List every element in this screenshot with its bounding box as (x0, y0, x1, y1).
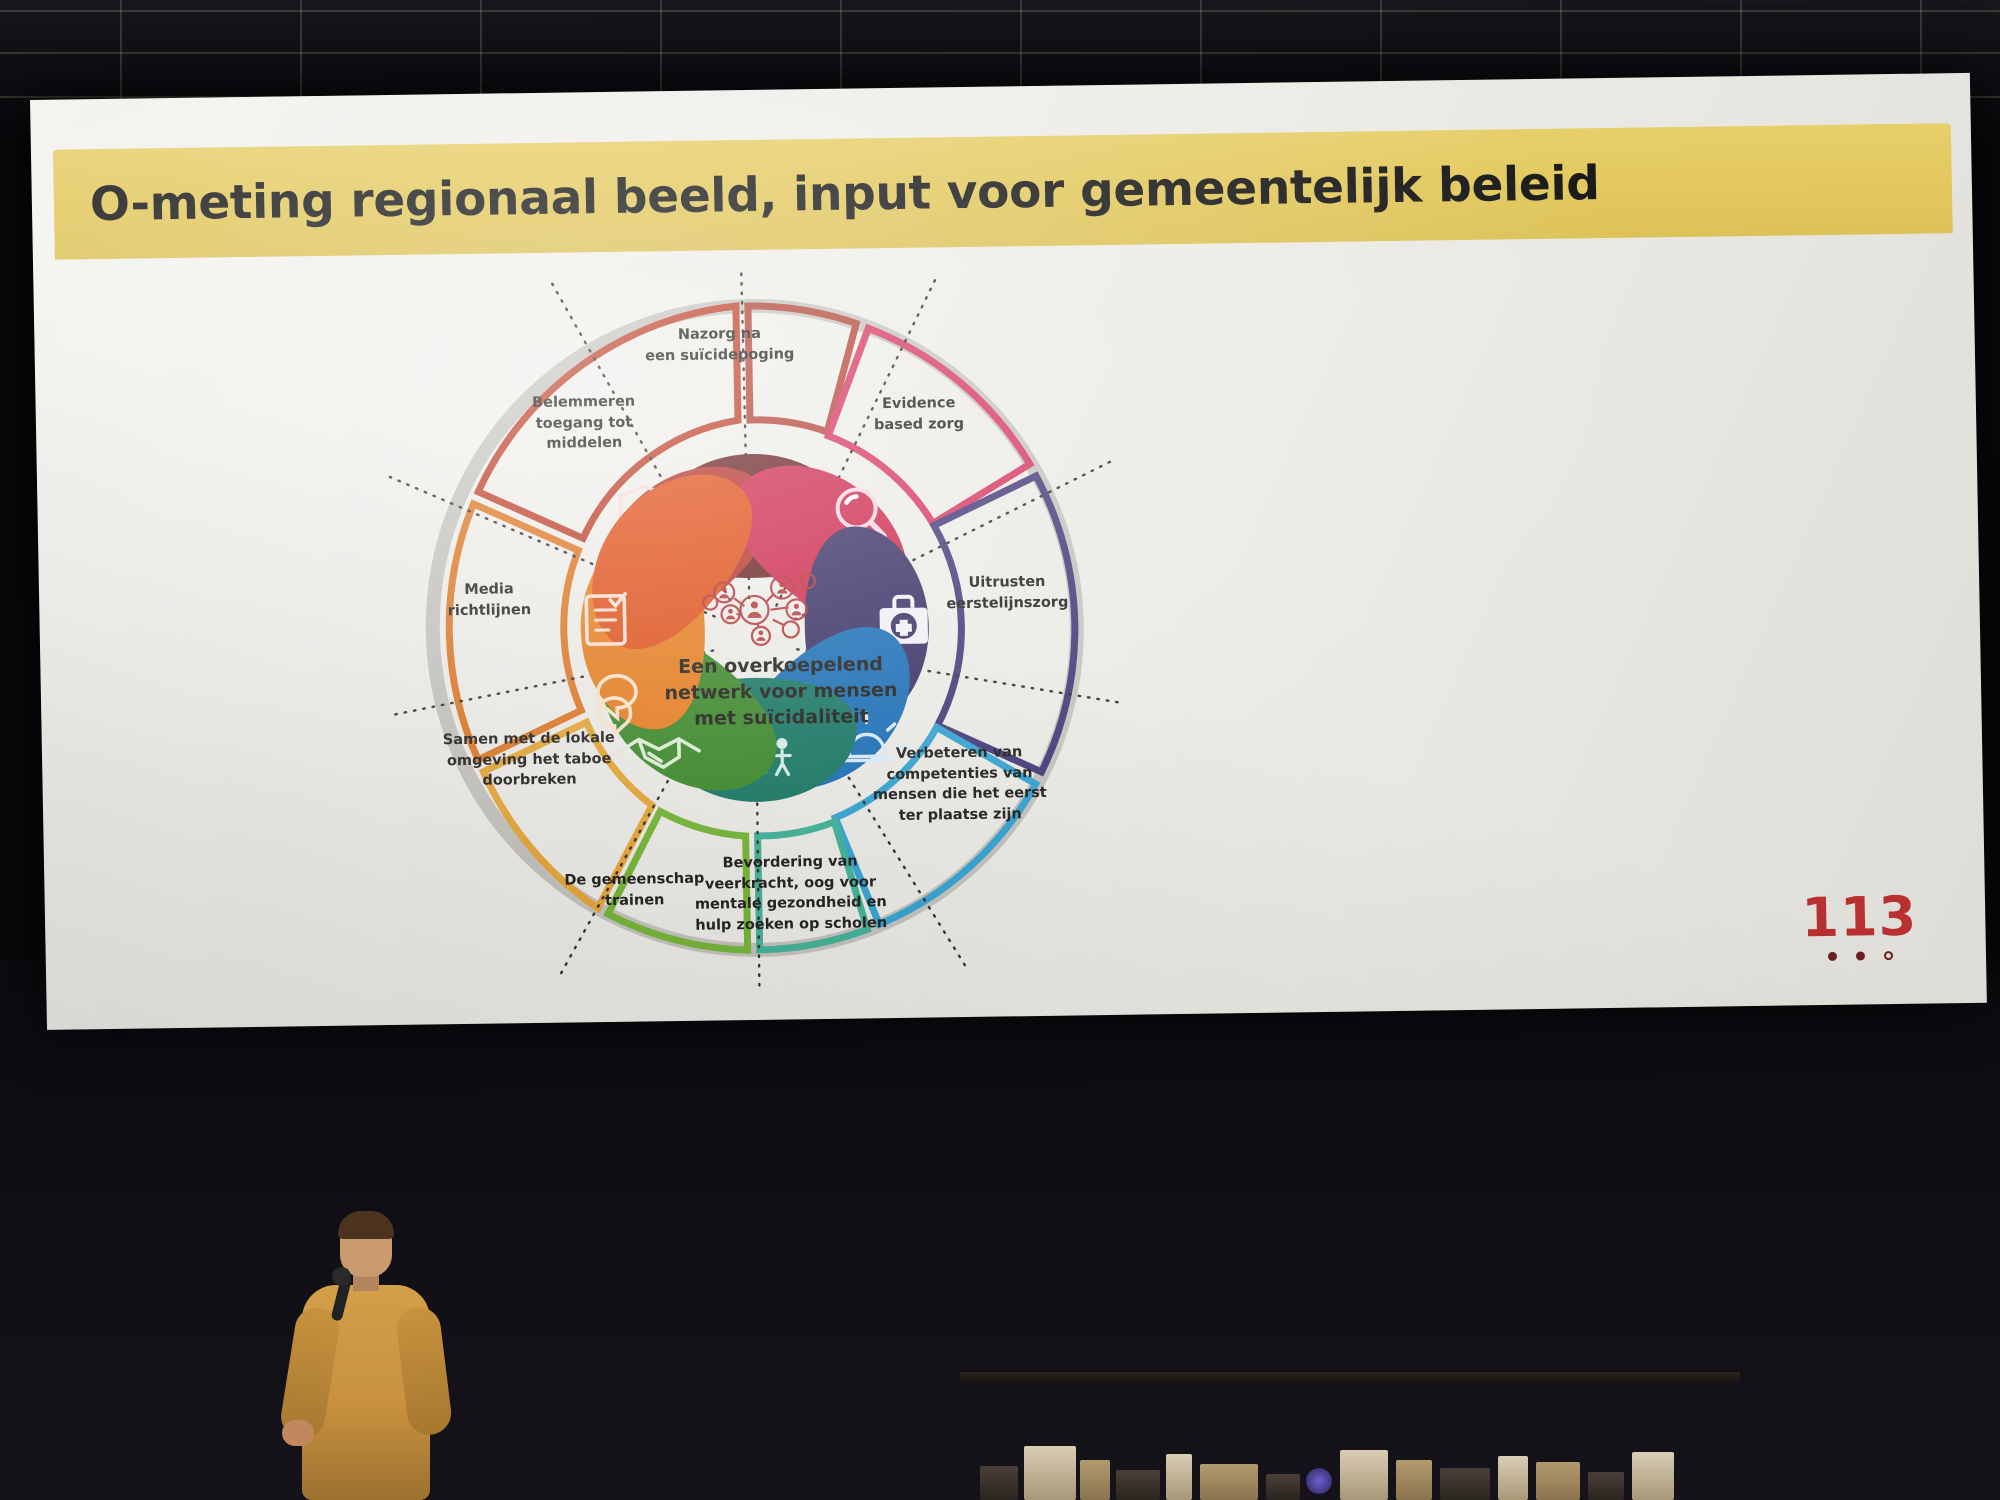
label-evidence-based-zorg: Evidence based zorg (829, 392, 1010, 436)
label-verbeteren-competenties: Verbeteren van competenties van mensen d… (859, 742, 1060, 827)
logo-113-number: 113 (1799, 890, 1920, 946)
photo-scene: O-meting regionaal beeld, input voor gem… (0, 0, 2000, 1500)
logo-113-dots (1800, 951, 1920, 962)
label-gemeenschap-trainen: De gemeenschap trainen (539, 868, 730, 912)
projection-screen: O-meting regionaal beeld, input voor gem… (30, 73, 1987, 1030)
page-title: O-meting regionaal beeld, input voor gem… (53, 156, 1600, 233)
label-uitrusten-eerstelijnszorg: Uitrusten eerstelijnszorg (912, 571, 1103, 615)
table-objects (980, 1375, 1700, 1500)
segment-arc-media (447, 502, 582, 760)
label-media-richtlijnen: Media richtlijnen (404, 578, 575, 622)
network-wheel-diagram: .ring { fill:none; stroke-width:7; } .ri… (378, 253, 1131, 1003)
logo-113: 113 (1799, 890, 1920, 962)
segment-arc-uitrusten (933, 475, 1077, 773)
slide-title-band: O-meting regionaal beeld, input voor gem… (53, 123, 1953, 259)
label-nazorg: Nazorg na een suïcidepoging (619, 323, 820, 367)
label-belemmeren-toegang: Belemmeren toegang tot middelen (488, 391, 679, 455)
speaker-presenter (290, 1215, 440, 1500)
label-taboe-doorbreken: Samen met de lokale omgeving het taboe d… (429, 728, 630, 793)
center-label: Een overkoepelend netwerk voor mensen me… (650, 651, 911, 733)
